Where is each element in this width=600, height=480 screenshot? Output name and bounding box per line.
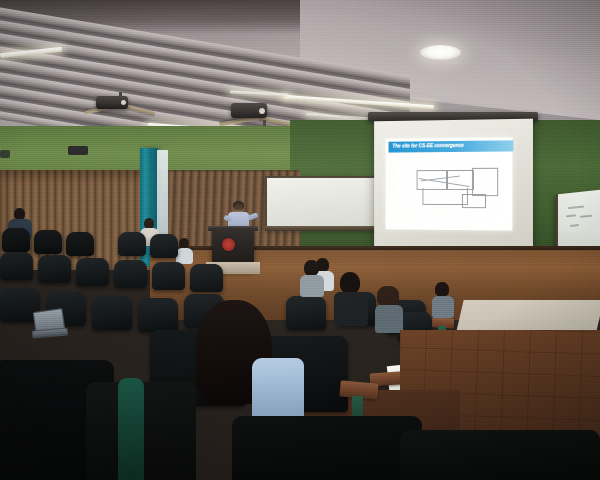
slide-title: The site for CS-EE convergence	[388, 140, 513, 152]
recessed-downlight-icon	[420, 45, 461, 60]
whiteboard-marker-tray	[265, 226, 385, 231]
wall-speaker-box	[68, 146, 88, 155]
auditorium-seat[interactable]	[118, 232, 146, 256]
auditorium-seat[interactable]	[190, 264, 223, 292]
diagram-block	[446, 170, 474, 190]
whiteboard-writing	[568, 205, 584, 209]
seat-back	[138, 298, 178, 332]
person-torso	[300, 275, 324, 297]
seat-back	[190, 264, 223, 292]
auditorium-seat[interactable]	[400, 430, 600, 480]
whiteboard-writing	[570, 224, 579, 227]
wall-speaker-box	[0, 150, 10, 158]
laptop-keyboard[interactable]	[32, 327, 69, 338]
auditorium-seat[interactable]	[114, 260, 147, 288]
auditorium-seat[interactable]	[152, 262, 185, 290]
person-torso	[252, 358, 304, 420]
seat-trim	[118, 378, 144, 480]
seat-back	[38, 255, 71, 283]
person-head	[340, 272, 360, 294]
projector-lens-icon	[121, 100, 126, 105]
auditorium-seat[interactable]	[0, 252, 33, 280]
auditorium-seat[interactable]	[34, 230, 62, 254]
projector-unit	[96, 96, 128, 109]
auditorium-seat[interactable]	[76, 258, 109, 286]
seat-back	[118, 232, 146, 256]
auditorium-seat[interactable]	[38, 255, 71, 283]
seat-back	[114, 260, 147, 288]
seat-back	[2, 228, 30, 252]
podium-emblem-icon	[222, 238, 235, 251]
auditorium-seat[interactable]	[232, 416, 422, 480]
auditorium-seat[interactable]	[66, 232, 94, 256]
seat-back	[150, 234, 178, 258]
auditorium-seat[interactable]	[2, 228, 30, 252]
seat-back	[152, 262, 185, 290]
auditorium-seat[interactable]	[150, 234, 178, 258]
seat-back	[92, 296, 132, 330]
auditorium-seat[interactable]	[286, 296, 326, 330]
whiteboard-main	[265, 176, 387, 230]
whiteboard-writing	[580, 215, 592, 218]
seat-back	[0, 252, 33, 280]
seat-back	[66, 232, 94, 256]
auditorium-seat[interactable]	[138, 298, 178, 332]
seat-back	[76, 258, 109, 286]
person-torso	[432, 296, 454, 318]
person-head	[435, 282, 449, 297]
person-torso	[334, 292, 368, 326]
whiteboard-right	[556, 190, 600, 255]
projection-screen: The site for CS-EE convergence	[374, 119, 533, 257]
diagram-block	[472, 168, 498, 196]
projector-unit	[231, 103, 267, 118]
seat-back	[286, 296, 326, 330]
auditorium-seat[interactable]	[92, 296, 132, 330]
person-torso	[375, 305, 403, 333]
person-head	[304, 260, 319, 276]
lecture-hall-photo: The site for CS-EE convergence	[0, 0, 600, 480]
diagram-block	[462, 194, 486, 208]
presentation-slide: The site for CS-EE convergence	[386, 137, 513, 230]
projector-lens-icon	[259, 108, 265, 114]
whiteboard-writing	[566, 214, 576, 217]
seat-back	[34, 230, 62, 254]
